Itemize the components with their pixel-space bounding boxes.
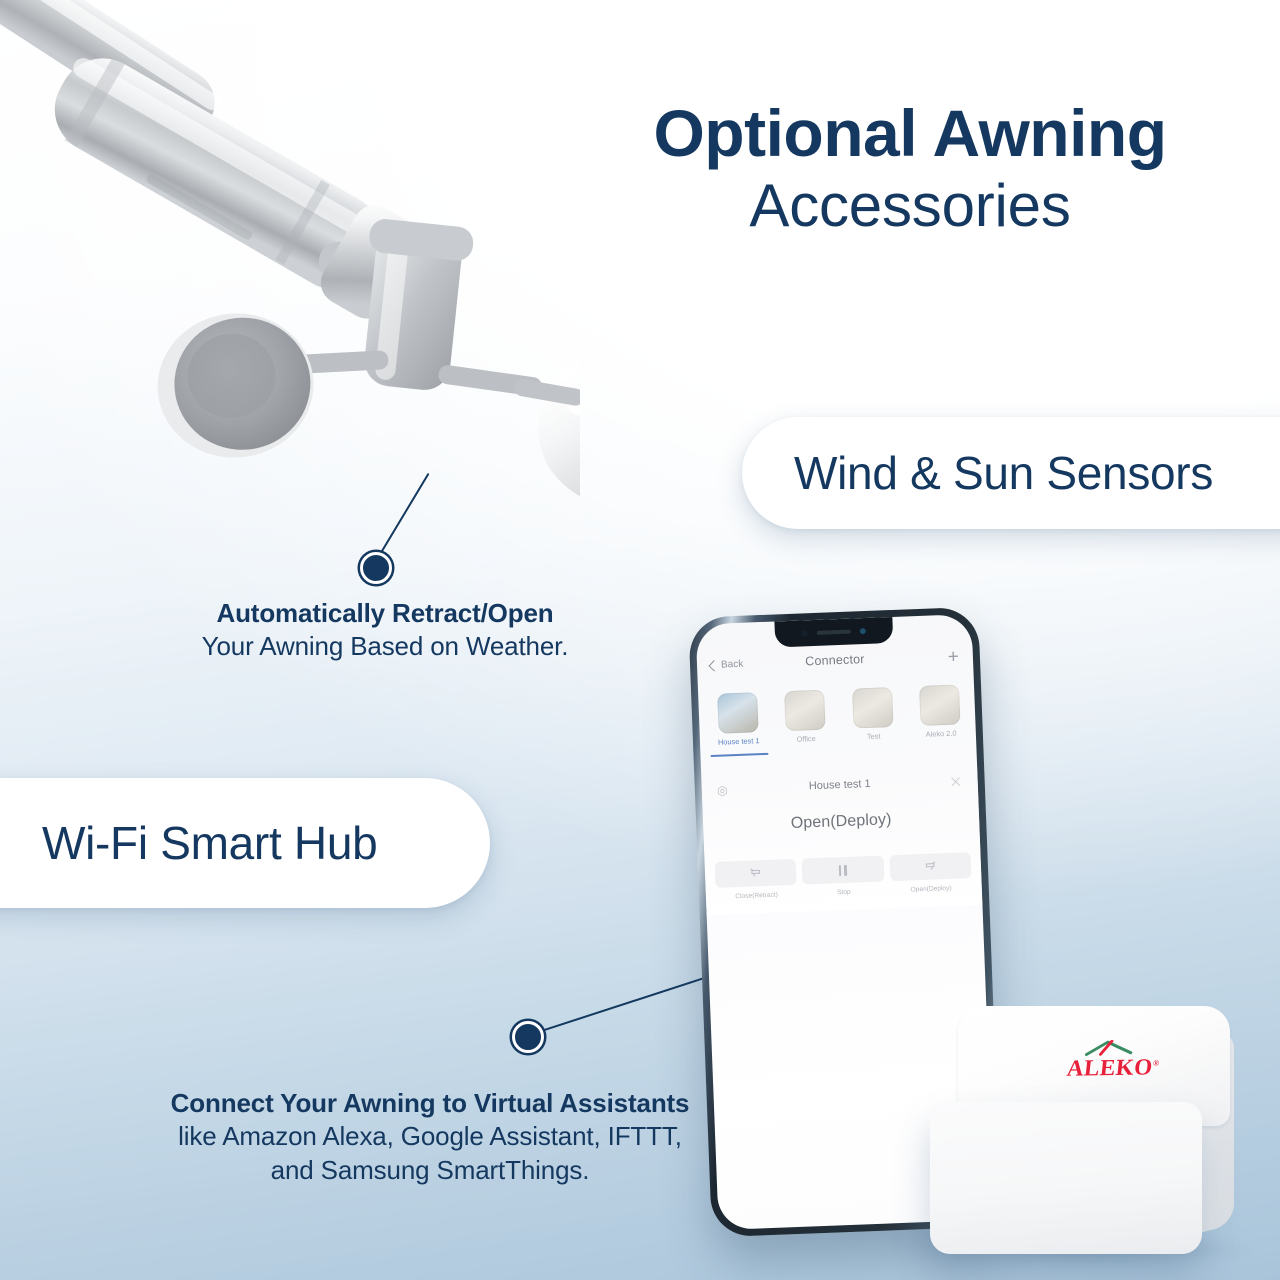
aleko-logo: ALEKO®	[1052, 1039, 1176, 1080]
aleko-wordmark: ALEKO®	[1052, 1055, 1175, 1080]
device-tab-strip: House test 1 Office Test Aleko 2.0	[708, 684, 970, 757]
front-camera-icon	[802, 630, 808, 636]
device-tab-label: Office	[796, 735, 815, 744]
smart-hub-callout-dot	[512, 1021, 544, 1053]
close-icon[interactable]	[949, 775, 961, 787]
wifi-smart-hub-device: ALEKO®	[930, 1006, 1230, 1264]
card-device-name: House test 1	[702, 774, 978, 797]
hub-front-face	[930, 1102, 1202, 1254]
caption-smart-hub-strong: Connect Your Awning to Virtual Assistant…	[138, 1088, 722, 1120]
control-label: Close(Retract)	[735, 892, 778, 901]
pause-icon	[802, 855, 884, 884]
awning-deploy-icon	[889, 852, 971, 881]
page-title: Optional Awning Accessories	[560, 100, 1260, 239]
device-control-card: House test 1 Open(Deploy)	[701, 764, 982, 915]
control-label: Stop	[837, 889, 851, 897]
device-tab-house-test-1[interactable]: House test 1	[708, 692, 768, 757]
badge-label-wind-sun-sensors: Wind & Sun Sensors	[794, 446, 1213, 500]
device-tab-label: House test 1	[718, 737, 760, 747]
device-tab-label: Aleko 2.0	[926, 730, 957, 740]
registered-trademark-symbol: ®	[1153, 1059, 1160, 1068]
caption-wind-sensor-strong: Automatically Retract/Open	[150, 598, 620, 630]
device-thumbnail	[784, 690, 826, 732]
app-nav-bar: Back Connector +	[697, 648, 974, 685]
device-thumbnail	[852, 687, 894, 729]
badge-wind-sun-sensors: Wind & Sun Sensors	[742, 417, 1280, 529]
card-header: House test 1	[702, 774, 978, 803]
device-tab-aleko-2-0[interactable]: Aleko 2.0	[911, 684, 971, 749]
caption-smart-hub-normal-1: like Amazon Alexa, Google Assistant, IFT…	[138, 1120, 722, 1154]
aleko-roof-mark-icon	[1054, 1039, 1176, 1057]
device-tab-test[interactable]: Test	[843, 687, 903, 752]
pause-bar-left	[839, 865, 842, 876]
caption-wind-sensor-normal: Your Awning Based on Weather.	[150, 630, 620, 664]
badge-label-wifi-smart-hub: Wi-Fi Smart Hub	[42, 816, 377, 870]
add-device-button[interactable]: +	[947, 647, 959, 666]
control-label: Open(Deploy)	[910, 885, 951, 894]
open-deploy-button[interactable]: Open(Deploy)	[889, 852, 972, 894]
active-tab-underline	[710, 752, 768, 756]
device-tab-office[interactable]: Office	[776, 689, 836, 754]
earpiece-speaker	[817, 630, 851, 635]
gear-icon[interactable]	[716, 784, 729, 797]
device-thumbnail	[919, 684, 961, 726]
face-id-sensor-icon	[860, 628, 866, 634]
stop-button[interactable]: Stop	[802, 855, 885, 897]
title-line-2: Accessories	[560, 172, 1260, 239]
active-tab-underline	[845, 747, 903, 751]
device-tab-label: Test	[867, 733, 881, 742]
caption-wind-sensor: Automatically Retract/Open Your Awning B…	[150, 598, 620, 664]
active-tab-underline	[778, 750, 836, 754]
device-status-text: Open(Deploy)	[703, 808, 979, 837]
device-control-buttons: Close(Retract) Stop	[705, 852, 982, 902]
app-title: Connector	[697, 648, 973, 673]
active-tab-underline	[913, 745, 971, 749]
device-thumbnail	[717, 692, 759, 734]
caption-smart-hub: Connect Your Awning to Virtual Assistant…	[138, 1088, 722, 1187]
phone-notch	[774, 617, 893, 648]
caption-smart-hub-normal-2: and Samsung SmartThings.	[138, 1154, 722, 1188]
title-line-1: Optional Awning	[560, 100, 1260, 166]
close-retract-button[interactable]: Close(Retract)	[715, 859, 798, 901]
badge-wifi-smart-hub: Wi-Fi Smart Hub	[0, 778, 490, 908]
awning-retract-icon	[715, 859, 797, 888]
marketing-banner: Optional Awning Accessories Wind & Sun S…	[0, 0, 1280, 1280]
awning-arm-wind-sensor-image	[0, 0, 580, 600]
wind-sensor-callout-dot	[360, 552, 392, 584]
pause-bar-right	[844, 864, 847, 875]
